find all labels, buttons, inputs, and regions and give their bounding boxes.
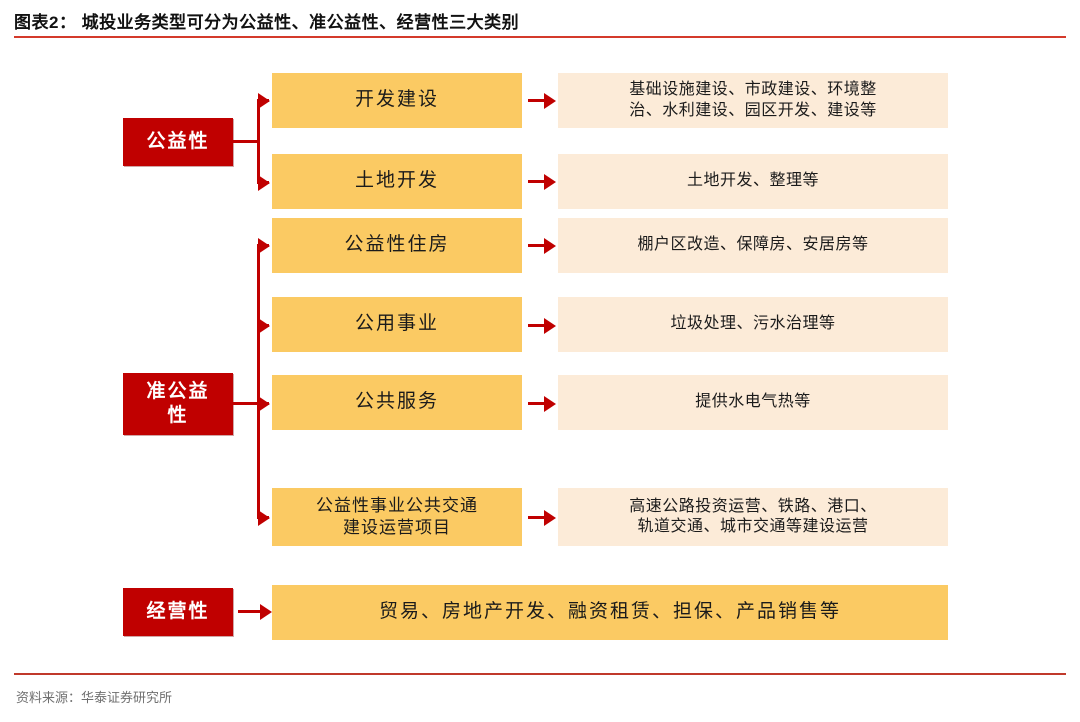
type-box-gongyixingzhufang[interactable]: 公益性住房	[272, 218, 522, 273]
type-box-kaifajianshe[interactable]: 开发建设	[272, 73, 522, 128]
desc-box-gongjiaojianshe[interactable]: 高速公路投资运营、铁路、港口、 轨道交通、城市交通等建设运营	[558, 488, 948, 546]
type-label: 公用事业	[355, 312, 439, 336]
arrow-head-g1-r1	[258, 93, 270, 109]
arrow-head-g2-r3	[258, 396, 270, 412]
desc-line: 基础设施建设、市政建设、环境整	[629, 80, 877, 100]
category-box-zhungongyixing[interactable]: 准公益 性	[123, 373, 233, 435]
type-box-gonggongfuwu[interactable]: 公共服务	[272, 375, 522, 430]
arrow-head-g2-r4	[258, 510, 270, 526]
type-label: 公益性住房	[344, 233, 449, 257]
type-label: 公共服务	[355, 390, 439, 414]
desc-box-gonggongfuwu[interactable]: 提供水电气热等	[558, 375, 948, 430]
type-label: 开发建设	[355, 88, 439, 112]
arrow-head-g2-r2	[258, 318, 270, 334]
category-box-gongyixing[interactable]: 公益性	[123, 118, 233, 166]
chart-header: 图表2： 城投业务类型可分为公益性、准公益性、经营性三大类别	[0, 0, 1080, 40]
desc-line: 高速公路投资运营、铁路、港口、	[629, 497, 877, 517]
arrow-head-g3	[260, 604, 272, 620]
desc-box-tudikaifa[interactable]: 土地开发、整理等	[558, 154, 948, 209]
arrow-head-desc-g1-r2	[544, 174, 556, 190]
type-box-gongyongshiye[interactable]: 公用事业	[272, 297, 522, 352]
desc-line: 轨道交通、城市交通等建设运营	[637, 517, 868, 537]
desc-line: 提供水电气热等	[695, 392, 811, 412]
diagram-canvas: 公益性 开发建设 基础设施建设、市政建设、环境整 治、水利建设、园区开发、建设等…	[0, 40, 1080, 673]
category-label: 性	[167, 404, 188, 428]
arrow-head-desc-g2-r3	[544, 396, 556, 412]
desc-line: 棚户区改造、保障房、安居房等	[637, 235, 868, 255]
arrow-head-g2-r1	[258, 238, 270, 254]
desc-box-gongyongshiye[interactable]: 垃圾处理、污水治理等	[558, 297, 948, 352]
arrow-head-desc-g2-r1	[544, 238, 556, 254]
desc-line: 垃圾处理、污水治理等	[670, 314, 835, 334]
type-box-gongjiaojianshe[interactable]: 公益性事业公共交通 建设运营项目	[272, 488, 522, 546]
type-box-tudikaifa[interactable]: 土地开发	[272, 154, 522, 209]
source-note: 资料来源：华泰证券研究所	[16, 687, 172, 706]
type-label: 贸易、房地产开发、融资租赁、担保、产品销售等	[379, 600, 841, 624]
type-label: 建设运营项目	[343, 517, 451, 539]
desc-box-kaifajianshe[interactable]: 基础设施建设、市政建设、环境整 治、水利建设、园区开发、建设等	[558, 73, 948, 128]
type-box-jingyingxing-list[interactable]: 贸易、房地产开发、融资租赁、担保、产品销售等	[272, 585, 948, 640]
arrow-head-g1-r2	[258, 175, 270, 191]
desc-box-gongyixingzhufang[interactable]: 棚户区改造、保障房、安居房等	[558, 218, 948, 273]
connector-stub-g1	[233, 140, 260, 143]
footer-divider	[14, 673, 1066, 675]
category-box-jingyingxing[interactable]: 经营性	[123, 588, 233, 636]
desc-line: 土地开发、整理等	[687, 171, 819, 191]
type-label: 土地开发	[355, 169, 439, 193]
desc-line: 治、水利建设、园区开发、建设等	[629, 101, 877, 121]
connector-vertical-g2	[257, 244, 260, 519]
category-label: 公益性	[146, 130, 209, 154]
page-title: 图表2： 城投业务类型可分为公益性、准公益性、经营性三大类别	[14, 8, 519, 33]
arrow-head-desc-g1-r1	[544, 93, 556, 109]
arrow-head-desc-g2-r4	[544, 510, 556, 526]
connector-stub-g2	[233, 402, 260, 405]
type-label: 公益性事业公共交通	[316, 495, 478, 517]
category-label: 经营性	[146, 600, 209, 624]
header-divider	[14, 36, 1066, 38]
arrow-head-desc-g2-r2	[544, 318, 556, 334]
category-label: 准公益	[146, 380, 209, 404]
